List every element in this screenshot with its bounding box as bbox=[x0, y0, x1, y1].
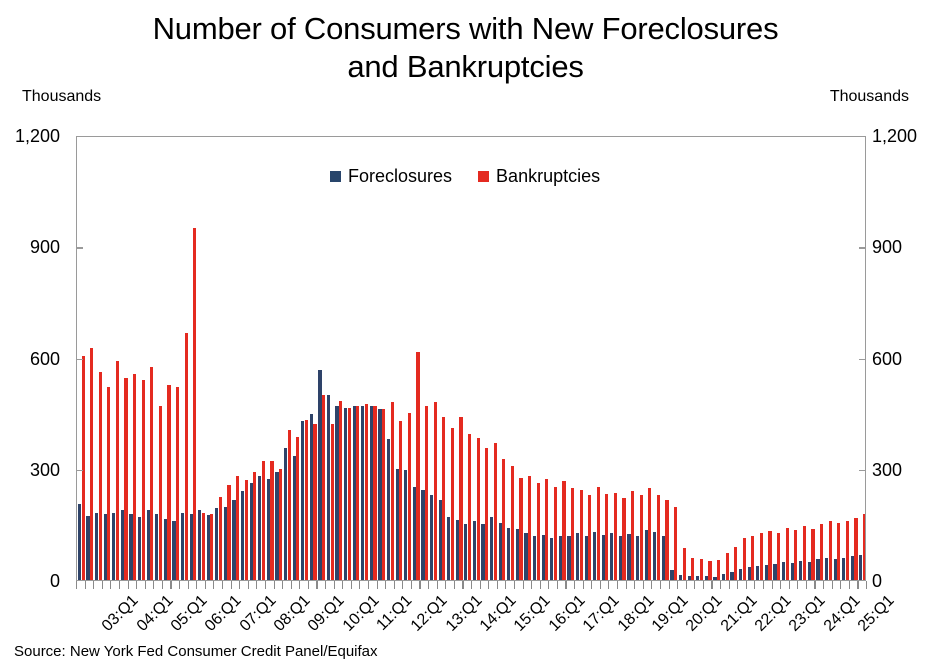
bar-group bbox=[764, 137, 773, 580]
bar-bankruptcies bbox=[288, 430, 291, 580]
x-axis-tick-label: 23:Q1 bbox=[786, 592, 830, 636]
bar-bankruptcies bbox=[382, 409, 385, 580]
bar-group bbox=[609, 137, 618, 580]
bar-bankruptcies bbox=[253, 472, 256, 580]
bar-bankruptcies bbox=[167, 385, 170, 580]
y-axis-unit-right: Thousands bbox=[830, 88, 909, 106]
x-axis-tick-mark bbox=[377, 581, 378, 589]
bar-bankruptcies bbox=[193, 228, 196, 580]
bar-bankruptcies bbox=[562, 481, 565, 580]
legend-item-foreclosures[interactable]: Foreclosures bbox=[330, 166, 452, 187]
bar-bankruptcies bbox=[683, 548, 686, 580]
bar-group bbox=[86, 137, 95, 580]
bar-group bbox=[815, 137, 824, 580]
bar-group bbox=[558, 137, 567, 580]
x-axis-tick-mark bbox=[239, 581, 240, 589]
bar-bankruptcies bbox=[425, 406, 428, 580]
y-axis-tick-label-left: 1,200 bbox=[0, 127, 60, 145]
x-axis-tick-mark bbox=[205, 581, 206, 589]
page-title: Number of Consumers with New Foreclosure… bbox=[0, 10, 931, 86]
legend-swatch-bankruptcies-icon bbox=[478, 171, 489, 182]
bar-group bbox=[781, 137, 790, 580]
bar-bankruptcies bbox=[236, 476, 239, 580]
x-axis-tick-mark bbox=[557, 581, 558, 589]
bar-bankruptcies bbox=[786, 528, 789, 580]
bar-bankruptcies bbox=[227, 485, 230, 580]
bar-group bbox=[232, 137, 241, 580]
x-axis-tick-mark bbox=[531, 581, 532, 589]
bar-bankruptcies bbox=[322, 395, 325, 580]
x-axis-tick-label: 10:Q1 bbox=[339, 592, 383, 636]
x-axis-tick-mark bbox=[196, 581, 197, 589]
x-axis-tick-mark bbox=[471, 581, 472, 589]
x-axis-tick-mark bbox=[85, 581, 86, 589]
x-axis-tick-mark bbox=[359, 581, 360, 589]
bar-bankruptcies bbox=[537, 483, 540, 580]
x-axis-tick-mark bbox=[617, 581, 618, 589]
bar-bankruptcies bbox=[674, 507, 677, 580]
y-axis-tick-label-right: 0 bbox=[872, 572, 931, 590]
bar-group bbox=[704, 137, 713, 580]
bar-group bbox=[438, 137, 447, 580]
x-axis-tick-label: 13:Q1 bbox=[443, 592, 487, 636]
x-axis-tick-label: 07:Q1 bbox=[236, 592, 280, 636]
bar-group bbox=[309, 137, 318, 580]
bar-group bbox=[678, 137, 687, 580]
chart-container: Number of Consumers with New Foreclosure… bbox=[0, 0, 931, 667]
bar-bankruptcies bbox=[777, 533, 780, 580]
y-axis-tick-mark bbox=[76, 470, 83, 471]
x-axis-tick-label: 19:Q1 bbox=[649, 592, 693, 636]
x-axis-tick-mark bbox=[737, 581, 738, 589]
bar-group bbox=[455, 137, 464, 580]
bar-bankruptcies bbox=[348, 408, 351, 580]
x-axis-tick-mark bbox=[840, 581, 841, 589]
legend-label-bankruptcies: Bankruptcies bbox=[496, 166, 600, 187]
y-axis-tick-mark bbox=[859, 247, 866, 248]
bar-group bbox=[266, 137, 275, 580]
x-axis-tick-mark bbox=[385, 581, 386, 589]
bar-group bbox=[283, 137, 292, 580]
bar-bankruptcies bbox=[150, 367, 153, 580]
x-axis-tick-mark bbox=[445, 581, 446, 589]
bar-group bbox=[429, 137, 438, 580]
bar-bankruptcies bbox=[468, 434, 471, 580]
bar-group bbox=[189, 137, 198, 580]
bar-bankruptcies bbox=[743, 538, 746, 580]
bar-series-layer bbox=[77, 137, 865, 580]
bar-bankruptcies bbox=[691, 558, 694, 580]
y-axis-tick-label-left: 600 bbox=[0, 350, 60, 368]
bar-bankruptcies bbox=[803, 526, 806, 580]
bar-group bbox=[515, 137, 524, 580]
bar-bankruptcies bbox=[133, 374, 136, 580]
bar-group bbox=[584, 137, 593, 580]
bar-group bbox=[524, 137, 533, 580]
bar-bankruptcies bbox=[734, 547, 737, 580]
bar-group bbox=[240, 137, 249, 580]
x-axis-tick-mark bbox=[565, 581, 566, 589]
bar-bankruptcies bbox=[588, 495, 591, 580]
bar-bankruptcies bbox=[124, 378, 127, 580]
plot-inner bbox=[77, 137, 865, 580]
x-axis-tick-label: 14:Q1 bbox=[477, 592, 521, 636]
bar-bankruptcies bbox=[751, 536, 754, 581]
bar-bankruptcies bbox=[434, 402, 437, 580]
bar-bankruptcies bbox=[356, 406, 359, 580]
y-axis-tick-mark bbox=[76, 247, 83, 248]
bar-group bbox=[120, 137, 129, 580]
bar-bankruptcies bbox=[605, 494, 608, 580]
bar-bankruptcies bbox=[502, 459, 505, 580]
x-axis-tick-mark bbox=[291, 581, 292, 589]
bar-group bbox=[137, 137, 146, 580]
bar-group bbox=[352, 137, 361, 580]
x-axis-tick-mark bbox=[866, 581, 867, 589]
bar-group bbox=[154, 137, 163, 580]
x-axis-tick-label: 05:Q1 bbox=[168, 592, 212, 636]
x-axis-tick-mark bbox=[600, 581, 601, 589]
bar-group bbox=[489, 137, 498, 580]
x-axis-tick-mark bbox=[711, 581, 712, 589]
y-axis-tick-label-left: 0 bbox=[0, 572, 60, 590]
y-axis-tick-label-left: 900 bbox=[0, 238, 60, 256]
bar-group bbox=[481, 137, 490, 580]
x-axis-tick-mark bbox=[222, 581, 223, 589]
x-axis-tick-mark bbox=[523, 581, 524, 589]
bar-bankruptcies bbox=[459, 417, 462, 580]
bar-group bbox=[275, 137, 284, 580]
bar-group bbox=[747, 137, 756, 580]
bar-bankruptcies bbox=[391, 402, 394, 580]
x-axis-tick-mark bbox=[402, 581, 403, 589]
bar-bankruptcies bbox=[142, 380, 145, 580]
bar-bankruptcies bbox=[202, 513, 205, 580]
y-axis-tick-mark bbox=[859, 470, 866, 471]
bar-group bbox=[420, 137, 429, 580]
legend-swatch-foreclosures-icon bbox=[330, 171, 341, 182]
bar-bankruptcies bbox=[760, 533, 763, 580]
x-axis-tick-mark bbox=[265, 581, 266, 589]
x-axis-tick-mark bbox=[857, 581, 858, 589]
bar-group bbox=[360, 137, 369, 580]
bar-group bbox=[300, 137, 309, 580]
legend-label-foreclosures: Foreclosures bbox=[348, 166, 452, 187]
bar-bankruptcies bbox=[279, 469, 282, 580]
bar-group bbox=[257, 137, 266, 580]
x-axis-tick-label: 24:Q1 bbox=[820, 592, 864, 636]
x-axis-tick-mark bbox=[729, 581, 730, 589]
bar-group bbox=[94, 137, 103, 580]
y-axis-tick-mark bbox=[76, 359, 83, 360]
x-axis-tick-mark bbox=[669, 581, 670, 589]
bar-group bbox=[687, 137, 696, 580]
bar-group bbox=[566, 137, 575, 580]
bar-bankruptcies bbox=[399, 421, 402, 580]
x-axis-tick-mark bbox=[703, 581, 704, 589]
x-axis-tick-label: 15:Q1 bbox=[511, 592, 555, 636]
bar-bankruptcies bbox=[648, 488, 651, 580]
bar-group bbox=[712, 137, 721, 580]
bar-bankruptcies bbox=[528, 476, 531, 580]
x-axis-tick-mark bbox=[110, 581, 111, 589]
bar-bankruptcies bbox=[176, 387, 179, 580]
x-axis-tick-mark bbox=[334, 581, 335, 589]
x-axis-tick-mark bbox=[351, 581, 352, 589]
bar-bankruptcies bbox=[313, 424, 316, 580]
x-axis-tick-mark bbox=[128, 581, 129, 589]
y-axis-unit-left: Thousands bbox=[22, 88, 101, 106]
bar-group bbox=[292, 137, 301, 580]
bar-bankruptcies bbox=[90, 348, 93, 580]
x-axis-tick-mark bbox=[153, 581, 154, 589]
x-axis-tick-mark bbox=[316, 581, 317, 589]
bar-group bbox=[223, 137, 232, 580]
bar-group bbox=[180, 137, 189, 580]
bar-bankruptcies bbox=[270, 461, 273, 580]
x-axis-tick-label: 18:Q1 bbox=[614, 592, 658, 636]
x-axis-tick-mark bbox=[772, 581, 773, 589]
x-axis-tick-mark bbox=[462, 581, 463, 589]
bar-bankruptcies bbox=[373, 406, 376, 580]
title-line-1: Number of Consumers with New Foreclosure… bbox=[0, 10, 931, 48]
x-axis-tick-mark bbox=[797, 581, 798, 589]
x-axis-tick-mark bbox=[282, 581, 283, 589]
bar-bankruptcies bbox=[580, 490, 583, 580]
x-axis-tick-mark bbox=[480, 581, 481, 589]
bar-group bbox=[773, 137, 782, 580]
x-axis-tick-mark bbox=[325, 581, 326, 589]
x-axis-tick-label: 16:Q1 bbox=[546, 592, 590, 636]
x-axis-tick-mark bbox=[583, 581, 584, 589]
bar-bankruptcies bbox=[820, 524, 823, 580]
bar-bankruptcies bbox=[640, 495, 643, 580]
bar-group bbox=[335, 137, 344, 580]
bar-group bbox=[790, 137, 799, 580]
x-axis-tick-mark bbox=[488, 581, 489, 589]
bar-bankruptcies bbox=[408, 413, 411, 580]
x-axis-tick-mark bbox=[102, 581, 103, 589]
bar-bankruptcies bbox=[296, 437, 299, 580]
bar-group bbox=[730, 137, 739, 580]
x-axis-tick-label: 20:Q1 bbox=[683, 592, 727, 636]
x-axis-tick-mark bbox=[591, 581, 592, 589]
x-axis-tick-mark bbox=[754, 581, 755, 589]
x-axis-tick-mark bbox=[162, 581, 163, 589]
bar-bankruptcies bbox=[262, 461, 265, 580]
x-axis-tick-mark bbox=[643, 581, 644, 589]
x-axis-tick-mark bbox=[231, 581, 232, 589]
x-axis-tick-mark bbox=[274, 581, 275, 589]
x-axis-tick-mark bbox=[179, 581, 180, 589]
bar-group bbox=[661, 137, 670, 580]
x-axis-tick-mark bbox=[608, 581, 609, 589]
bar-group bbox=[798, 137, 807, 580]
bar-group bbox=[635, 137, 644, 580]
x-axis-tick-label: 21:Q1 bbox=[717, 592, 761, 636]
legend-item-bankruptcies[interactable]: Bankruptcies bbox=[478, 166, 600, 187]
x-axis-tick-mark bbox=[651, 581, 652, 589]
bar-bankruptcies bbox=[846, 521, 849, 580]
x-axis-tick-mark bbox=[660, 581, 661, 589]
x-axis-tick-mark bbox=[746, 581, 747, 589]
bar-bankruptcies bbox=[245, 480, 248, 580]
x-axis-tick-mark bbox=[832, 581, 833, 589]
x-axis-tick-mark bbox=[248, 581, 249, 589]
bar-group bbox=[541, 137, 550, 580]
bar-bankruptcies bbox=[614, 493, 617, 580]
bar-group bbox=[841, 137, 850, 580]
bar-group bbox=[171, 137, 180, 580]
bar-bankruptcies bbox=[717, 560, 720, 580]
bar-bankruptcies bbox=[622, 498, 625, 580]
bar-bankruptcies bbox=[708, 561, 711, 580]
y-axis-tick-label-right: 1,200 bbox=[872, 127, 931, 145]
bar-bankruptcies bbox=[794, 530, 797, 580]
x-axis-tick-label: 22:Q1 bbox=[752, 592, 796, 636]
bar-group bbox=[575, 137, 584, 580]
bar-group bbox=[755, 137, 764, 580]
y-axis-tick-label-left: 300 bbox=[0, 461, 60, 479]
bar-group bbox=[472, 137, 481, 580]
bar-bankruptcies bbox=[854, 518, 857, 580]
bar-group bbox=[592, 137, 601, 580]
bar-bankruptcies bbox=[657, 495, 660, 580]
x-axis-tick-mark bbox=[342, 581, 343, 589]
bar-bankruptcies bbox=[99, 372, 102, 580]
bar-bankruptcies bbox=[811, 529, 814, 580]
bar-bankruptcies bbox=[631, 491, 634, 580]
x-axis-tick-mark bbox=[763, 581, 764, 589]
bar-bankruptcies bbox=[726, 553, 729, 580]
bar-bankruptcies bbox=[837, 523, 840, 580]
bar-bankruptcies bbox=[700, 559, 703, 581]
bar-group bbox=[721, 137, 730, 580]
bar-group bbox=[206, 137, 215, 580]
x-axis-tick-mark bbox=[419, 581, 420, 589]
bar-bankruptcies bbox=[305, 420, 308, 580]
x-axis-tick-mark bbox=[849, 581, 850, 589]
y-axis-tick-label-right: 600 bbox=[872, 350, 931, 368]
bar-group bbox=[807, 137, 816, 580]
bar-group bbox=[850, 137, 859, 580]
x-axis-tick-mark bbox=[505, 581, 506, 589]
x-axis-tick-mark bbox=[780, 581, 781, 589]
bar-bankruptcies bbox=[597, 487, 600, 580]
bar-bankruptcies bbox=[494, 443, 497, 580]
y-axis-tick-label-right: 900 bbox=[872, 238, 931, 256]
bar-bankruptcies bbox=[511, 466, 514, 580]
x-axis-tick-mark bbox=[119, 581, 120, 589]
x-axis-tick-mark bbox=[497, 581, 498, 589]
bar-group bbox=[446, 137, 455, 580]
bar-group bbox=[833, 137, 842, 580]
bar-group bbox=[326, 137, 335, 580]
x-axis-tick-label: 08:Q1 bbox=[271, 592, 315, 636]
x-axis-tick-mark bbox=[540, 581, 541, 589]
x-axis-tick-mark bbox=[823, 581, 824, 589]
x-axis-tick-mark bbox=[437, 581, 438, 589]
bar-group bbox=[369, 137, 378, 580]
bar-group bbox=[463, 137, 472, 580]
x-axis-tick-mark bbox=[136, 581, 137, 589]
x-axis-tick-label: 04:Q1 bbox=[133, 592, 177, 636]
x-axis-tick-mark bbox=[626, 581, 627, 589]
bar-bankruptcies bbox=[365, 404, 368, 580]
bar-group bbox=[403, 137, 412, 580]
bar-group bbox=[618, 137, 627, 580]
bar-group bbox=[652, 137, 661, 580]
bar-group bbox=[343, 137, 352, 580]
bar-bankruptcies bbox=[519, 478, 522, 580]
x-axis-tick-mark bbox=[213, 581, 214, 589]
bar-group bbox=[738, 137, 747, 580]
bar-group bbox=[506, 137, 515, 580]
x-axis-tick-mark bbox=[514, 581, 515, 589]
x-axis-tick-label: 09:Q1 bbox=[305, 592, 349, 636]
x-axis-tick-mark bbox=[574, 581, 575, 589]
bar-group bbox=[532, 137, 541, 580]
x-axis-tick-mark bbox=[145, 581, 146, 589]
bar-group bbox=[549, 137, 558, 580]
x-axis-tick-mark bbox=[806, 581, 807, 589]
x-axis-tick-mark bbox=[93, 581, 94, 589]
bar-bankruptcies bbox=[829, 521, 832, 580]
bar-bankruptcies bbox=[185, 333, 188, 580]
x-axis-tick-mark bbox=[188, 581, 189, 589]
bar-group bbox=[146, 137, 155, 580]
bar-group bbox=[197, 137, 206, 580]
bar-bankruptcies bbox=[485, 448, 488, 580]
bar-group bbox=[111, 137, 120, 580]
bar-group bbox=[644, 137, 653, 580]
x-axis-tick-mark bbox=[76, 581, 77, 589]
x-axis-tick-mark bbox=[548, 581, 549, 589]
x-axis-tick-label: 12:Q1 bbox=[408, 592, 452, 636]
bar-group bbox=[249, 137, 258, 580]
bar-bankruptcies bbox=[442, 417, 445, 580]
chart-legend: Foreclosures Bankruptcies bbox=[330, 166, 600, 187]
x-axis-tick-label: 25:Q1 bbox=[855, 592, 899, 636]
x-axis-tick-label: 11:Q1 bbox=[373, 592, 416, 635]
bar-group bbox=[163, 137, 172, 580]
bar-group bbox=[395, 137, 404, 580]
title-line-2: and Bankruptcies bbox=[0, 48, 931, 86]
bar-group bbox=[601, 137, 610, 580]
x-axis-tick-mark bbox=[634, 581, 635, 589]
x-axis-tick-mark bbox=[411, 581, 412, 589]
bar-bankruptcies bbox=[416, 352, 419, 580]
x-axis-tick-mark bbox=[686, 581, 687, 589]
bar-group bbox=[498, 137, 507, 580]
bar-group bbox=[670, 137, 679, 580]
x-axis-tick-mark bbox=[368, 581, 369, 589]
bar-group bbox=[378, 137, 387, 580]
bar-bankruptcies bbox=[554, 487, 557, 580]
bar-bankruptcies bbox=[159, 406, 162, 580]
bar-group bbox=[695, 137, 704, 580]
bar-bankruptcies bbox=[219, 497, 222, 580]
x-axis-tick-label: 06:Q1 bbox=[202, 592, 246, 636]
bar-group bbox=[129, 137, 138, 580]
bar-bankruptcies bbox=[107, 387, 110, 580]
x-axis-tick-mark bbox=[170, 581, 171, 589]
x-axis-tick-label: 17:Q1 bbox=[580, 592, 624, 636]
bar-bankruptcies bbox=[82, 356, 85, 580]
y-axis-tick-label-right: 300 bbox=[872, 461, 931, 479]
x-axis-tick-label: 03:Q1 bbox=[99, 592, 143, 636]
source-note: Source: New York Fed Consumer Credit Pan… bbox=[14, 643, 378, 660]
